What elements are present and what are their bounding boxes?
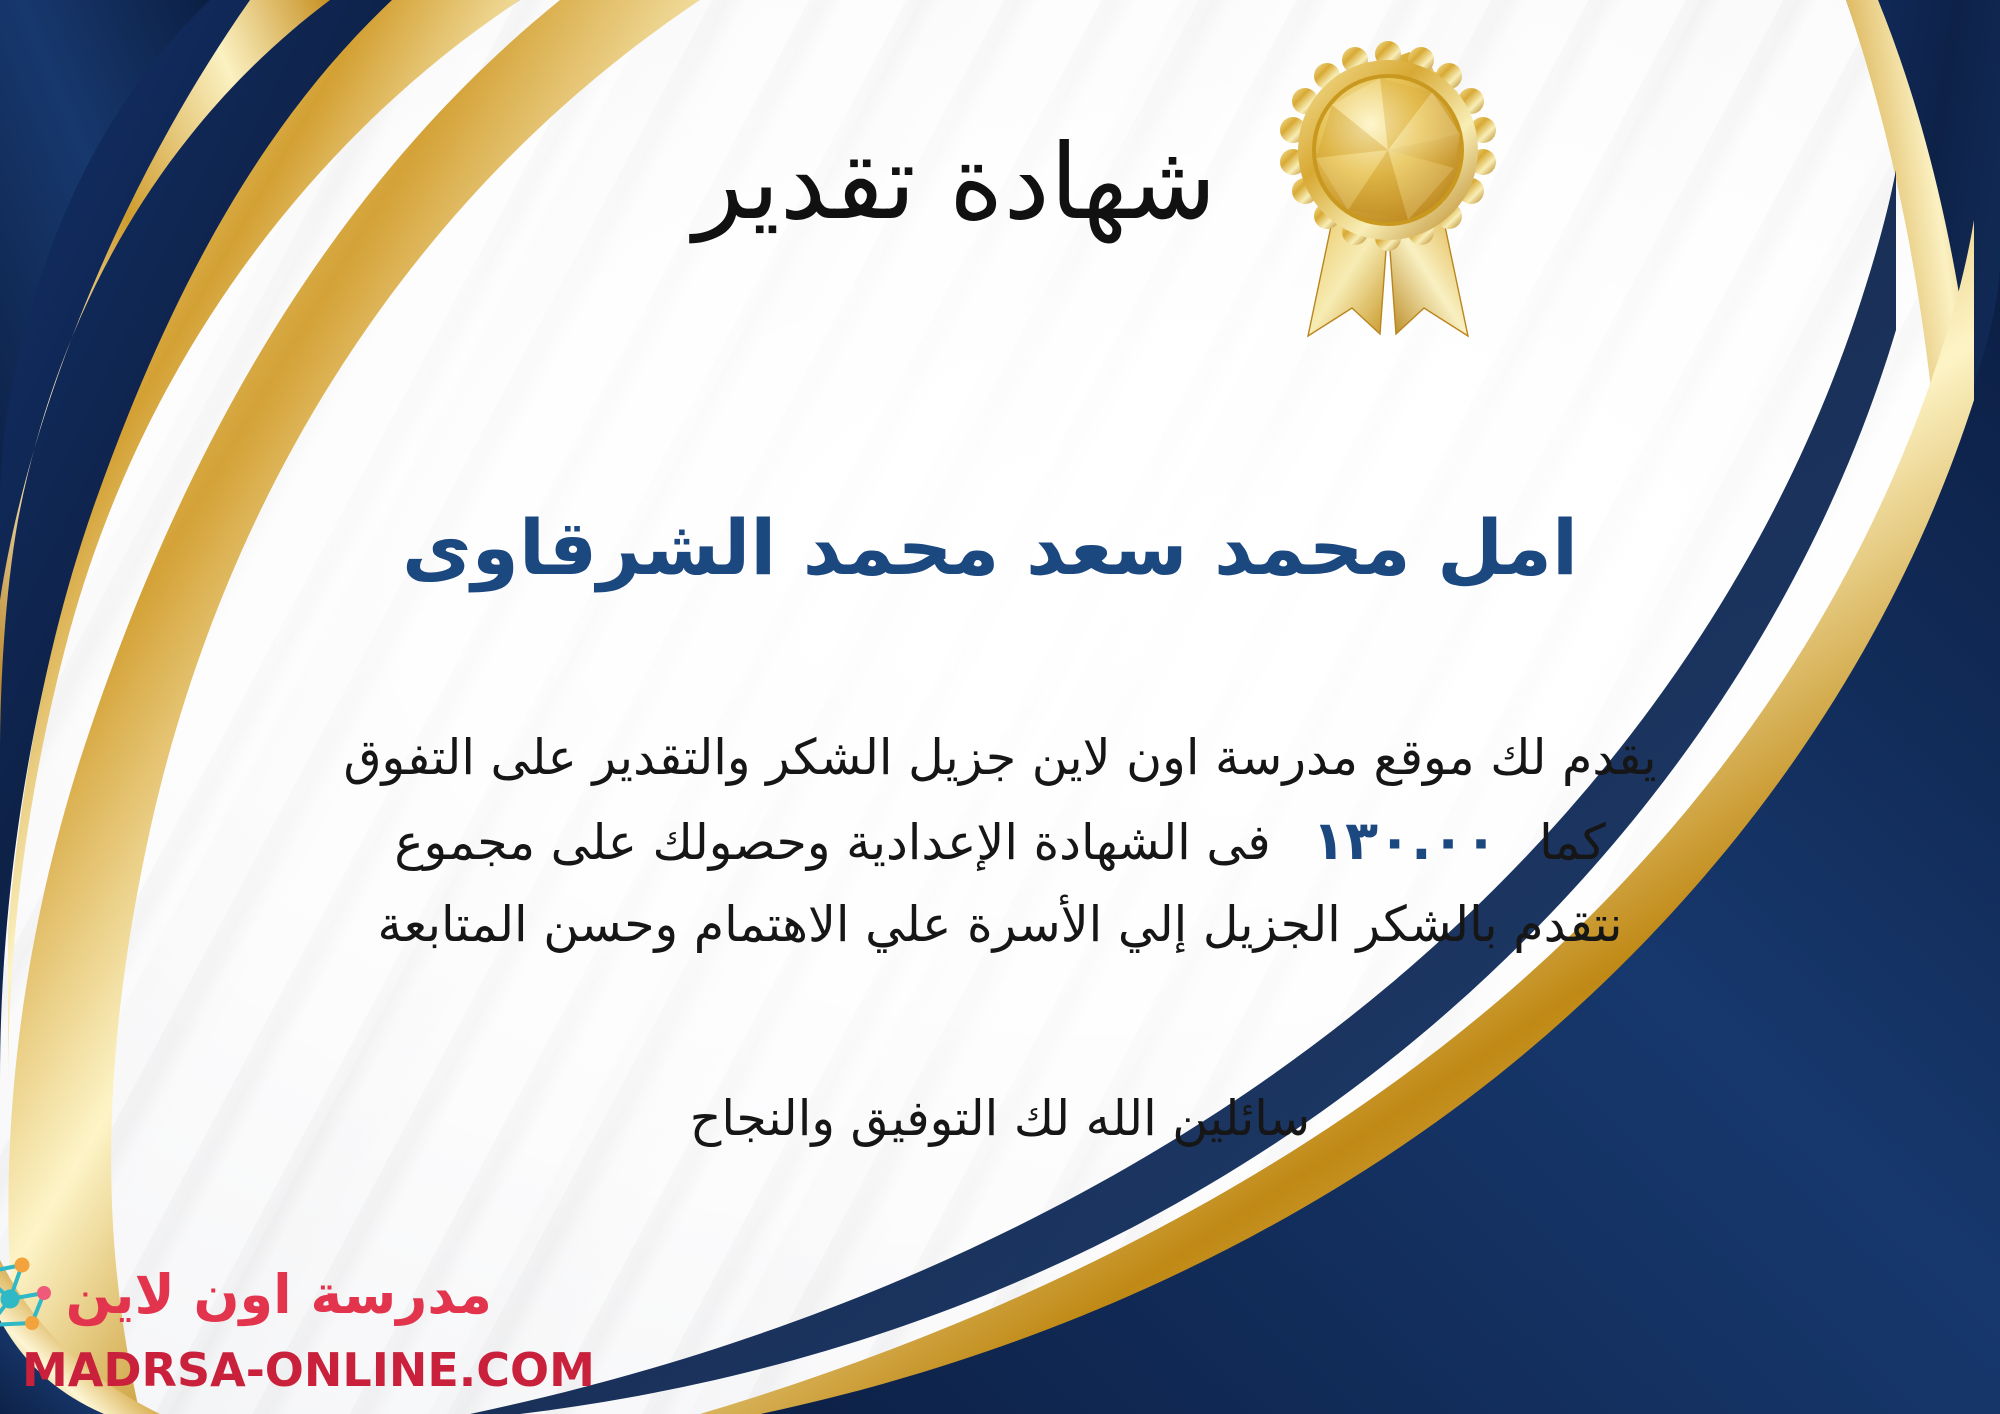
brand-website[interactable]: MADRSA-ONLINE.COM bbox=[22, 1343, 492, 1397]
brand-logo-row: مدرسة اون لاين bbox=[22, 1249, 492, 1341]
body-line-2-after: كما bbox=[1539, 814, 1606, 871]
body-line-1: يقدم لك موقع مدرسة اون لاين جزيل الشكر و… bbox=[60, 718, 1940, 797]
grade-value: ١٣٠.٠٠ bbox=[1286, 809, 1523, 872]
brand-logo[interactable]: مدرسة اون لاين bbox=[22, 1249, 492, 1384]
network-nodes-icon bbox=[0, 1249, 56, 1341]
brand-arabic-name: مدرسة اون لاين bbox=[66, 1267, 492, 1324]
page-title: شهادة تقدير bbox=[0, 128, 2000, 237]
body-line-2-before: فى الشهادة الإعدادية وحصولك على مجموع bbox=[394, 814, 1270, 871]
body-line-3: نتقدم بالشكر الجزيل إلي الأسرة علي الاهت… bbox=[60, 885, 1940, 964]
certificate-content: شهادة تقدير امل محمد سعد محمد الشرقاوى ي… bbox=[0, 0, 2000, 1414]
body-line-2: كما ١٣٠.٠٠ فى الشهادة الإعدادية وحصولك ع… bbox=[60, 797, 1940, 884]
certificate-canvas: شهادة تقدير امل محمد سعد محمد الشرقاوى ي… bbox=[0, 0, 2000, 1414]
wish-line: سائلين الله لك التوفيق والنجاح bbox=[0, 1085, 2000, 1154]
student-name: امل محمد سعد محمد الشرقاوى bbox=[0, 506, 2000, 590]
certificate-body: يقدم لك موقع مدرسة اون لاين جزيل الشكر و… bbox=[60, 718, 1940, 964]
